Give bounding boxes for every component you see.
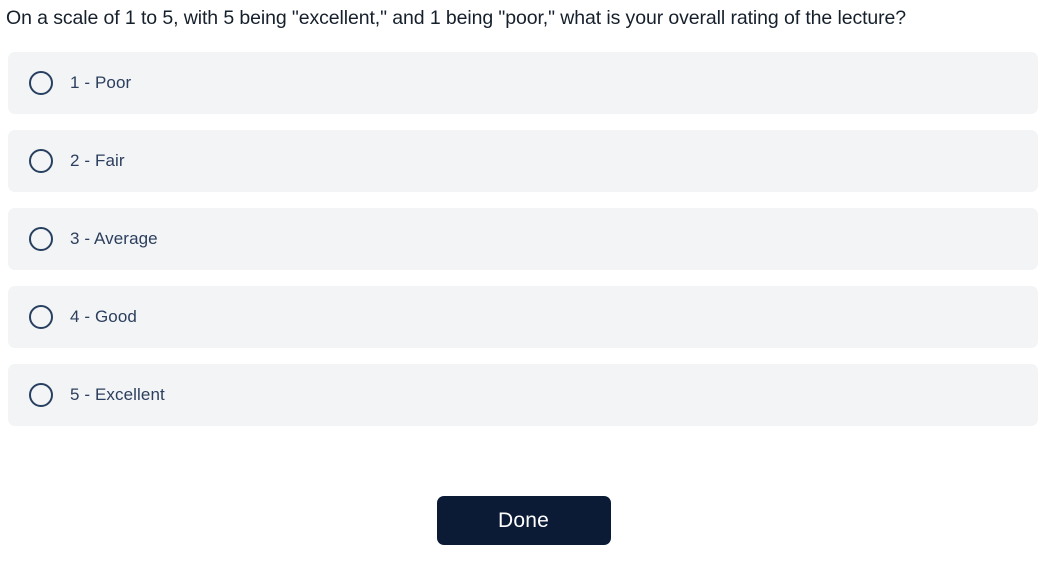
option-row-2[interactable]: 2 - Fair	[8, 130, 1038, 192]
option-label-2: 2 - Fair	[70, 150, 125, 172]
option-row-4[interactable]: 4 - Good	[8, 286, 1038, 348]
option-label-5: 5 - Excellent	[70, 384, 165, 406]
form-footer: Done	[0, 496, 1047, 545]
radio-unchecked-icon[interactable]	[29, 383, 53, 407]
option-row-1[interactable]: 1 - Poor	[8, 52, 1038, 114]
option-label-3: 3 - Average	[70, 228, 158, 250]
option-label-4: 4 - Good	[70, 306, 137, 328]
radio-unchecked-icon[interactable]	[29, 71, 53, 95]
question-prompt: On a scale of 1 to 5, with 5 being "exce…	[6, 5, 1041, 31]
option-row-3[interactable]: 3 - Average	[8, 208, 1038, 270]
survey-question-panel: On a scale of 1 to 5, with 5 being "exce…	[0, 0, 1047, 561]
radio-unchecked-icon[interactable]	[29, 305, 53, 329]
answer-options-group: 1 - Poor 2 - Fair 3 - Average 4 - Good 5…	[8, 52, 1038, 426]
radio-unchecked-icon[interactable]	[29, 227, 53, 251]
radio-unchecked-icon[interactable]	[29, 149, 53, 173]
option-row-5[interactable]: 5 - Excellent	[8, 364, 1038, 426]
done-button[interactable]: Done	[437, 496, 611, 545]
option-label-1: 1 - Poor	[70, 72, 131, 94]
